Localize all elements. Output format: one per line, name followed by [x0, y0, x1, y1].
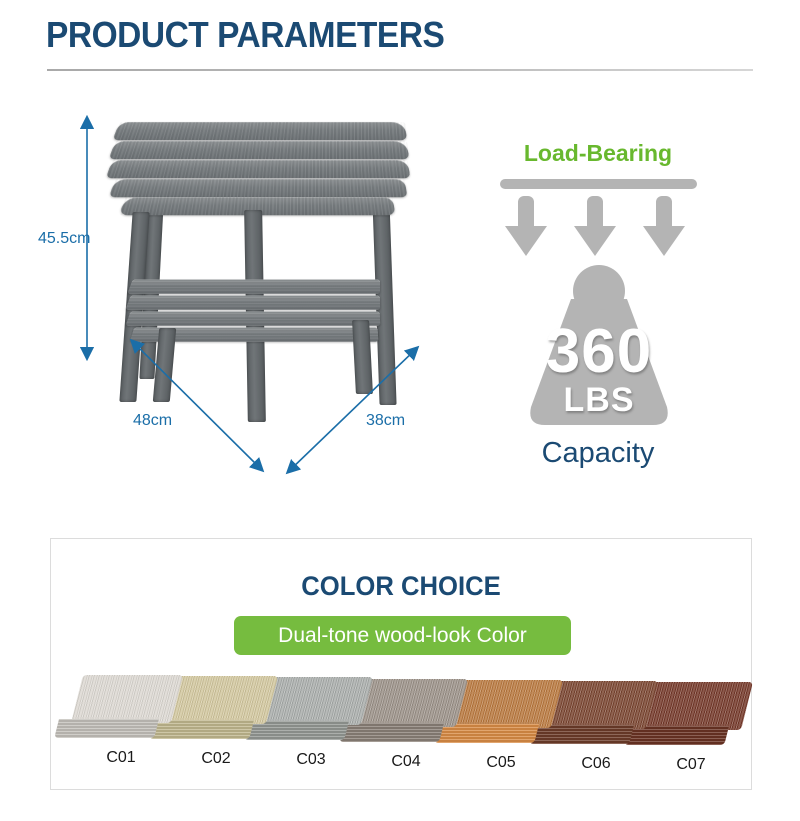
color-choice-title: COLOR CHOICE [69, 571, 734, 602]
weight-unit: LBS [521, 383, 677, 417]
depth-dimension-label: 38cm [366, 412, 405, 430]
swatch-top-face [71, 675, 183, 723]
load-arrows-group [495, 196, 705, 266]
weight-capacity-icon: 360 LBS [521, 265, 677, 431]
color-swatch-row: C01C02C03C04C05C06C07 [71, 675, 733, 775]
height-dimension-label: 45.5cm [38, 230, 90, 248]
dimension-annotations [20, 95, 480, 495]
dual-tone-badge-label: Dual-tone wood-look Color [278, 624, 527, 648]
weight-value: 360 [521, 321, 677, 383]
load-bearing-title: Load-Bearing [498, 140, 698, 167]
title-divider [47, 69, 753, 71]
width-dimension-arrow [132, 341, 262, 470]
swatch-front-face [54, 719, 159, 738]
down-arrow-icon [505, 196, 547, 256]
depth-dimension-arrow [288, 348, 417, 472]
down-arrow-icon [643, 196, 685, 256]
capacity-caption: Capacity [498, 437, 698, 470]
swatch-label: C01 [65, 749, 177, 767]
color-choice-panel: COLOR CHOICE Dual-tone wood-look Color C… [50, 538, 752, 790]
swatch-block [71, 675, 183, 743]
color-swatch-c01[interactable]: C01 [71, 675, 183, 743]
down-arrow-icon [574, 196, 616, 256]
page-title: PRODUCT PARAMETERS [46, 14, 444, 56]
dual-tone-badge: Dual-tone wood-look Color [234, 616, 571, 655]
width-dimension-label: 48cm [133, 412, 172, 430]
load-bearing-bar [500, 179, 697, 189]
